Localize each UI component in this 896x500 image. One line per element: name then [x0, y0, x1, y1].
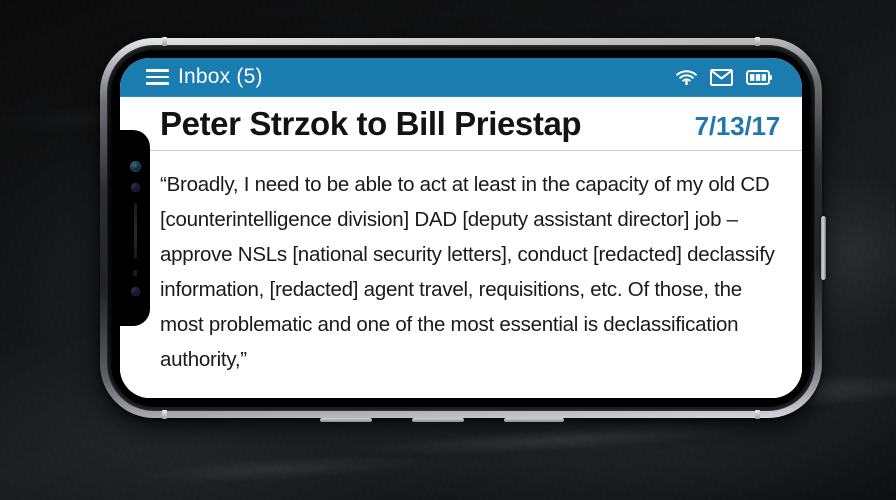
antenna-band-tick: [162, 37, 167, 46]
inbox-label[interactable]: Inbox (5): [178, 65, 263, 89]
front-camera-icon: [130, 161, 141, 172]
battery-icon: [746, 70, 772, 85]
dot-projector-icon: [131, 287, 140, 296]
mail-app: Inbox (5): [120, 58, 802, 398]
app-status-bar: Inbox (5): [120, 58, 802, 97]
phone-screen: Inbox (5): [120, 58, 802, 398]
speaker-grille: [320, 418, 372, 422]
wifi-icon: [676, 69, 697, 85]
mail-header: Peter Strzok to Bill Priestap 7/13/17: [120, 97, 802, 151]
scene-background: Inbox (5): [0, 0, 896, 500]
mail-body: “Broadly, I need to be able to act at le…: [120, 151, 802, 398]
ambient-sensor-icon: [133, 270, 137, 276]
smartphone-device: Inbox (5): [100, 38, 822, 418]
status-icon-group: [676, 69, 782, 86]
antenna-band-tick: [755, 37, 760, 46]
lightning-port: [412, 418, 464, 422]
antenna-band-tick: [755, 410, 760, 419]
mail-subject-title: Peter Strzok to Bill Priestap: [160, 105, 581, 143]
mail-date: 7/13/17: [677, 111, 780, 142]
antenna-band-tick: [162, 410, 167, 419]
proximity-sensor-icon: [131, 183, 140, 192]
power-button[interactable]: [821, 216, 826, 280]
device-notch: [120, 130, 150, 326]
speaker-grille: [504, 418, 564, 422]
earpiece-speaker-icon: [134, 203, 137, 259]
envelope-icon: [710, 69, 733, 86]
mail-body-text: “Broadly, I need to be able to act at le…: [160, 167, 780, 377]
hamburger-menu-icon[interactable]: [146, 69, 169, 85]
